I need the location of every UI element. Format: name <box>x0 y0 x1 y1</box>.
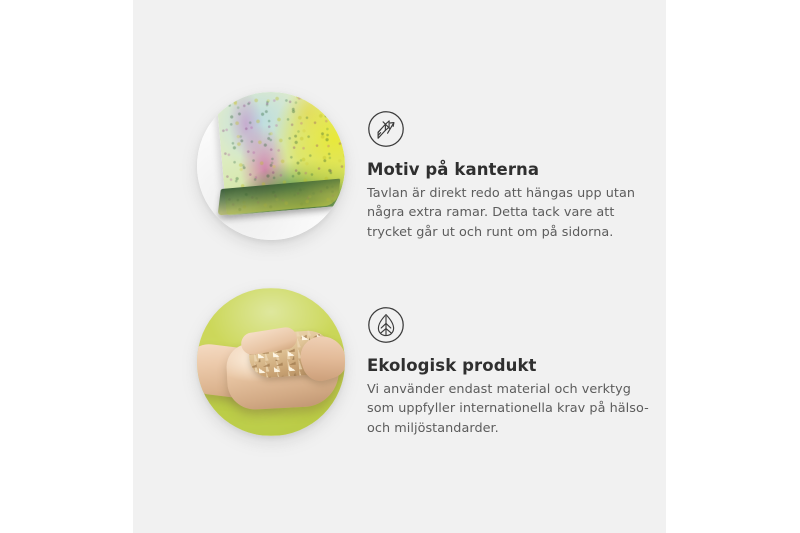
feature-body: Tavlan är direkt redo att hängas upp uta… <box>367 184 649 242</box>
canvas-corner-photo <box>197 92 345 240</box>
feature-row-edges: Motiv på kanterna Tavlan är direkt redo … <box>133 92 649 242</box>
hands-wood-chips-photo <box>197 288 345 436</box>
feature-text-eco: Ekologisk produkt Vi använder endast mat… <box>367 288 649 438</box>
canvas-wrapped-edge-icon <box>367 110 405 148</box>
feature-title: Ekologisk produkt <box>367 356 649 376</box>
canvas-corner-photo-wrap <box>197 92 345 240</box>
feature-row-eco: Ekologisk produkt Vi använder endast mat… <box>133 288 649 438</box>
feature-title: Motiv på kanterna <box>367 160 649 180</box>
feature-body: Vi använder endast material och verktyg … <box>367 380 649 438</box>
product-feature-panel: Motiv på kanterna Tavlan är direkt redo … <box>133 0 666 533</box>
product-info-page: Motiv på kanterna Tavlan är direkt redo … <box>0 0 800 533</box>
leaf-icon <box>367 306 405 344</box>
feature-text-edges: Motiv på kanterna Tavlan är direkt redo … <box>367 92 649 242</box>
hands-wood-chips-photo-wrap <box>197 288 345 436</box>
